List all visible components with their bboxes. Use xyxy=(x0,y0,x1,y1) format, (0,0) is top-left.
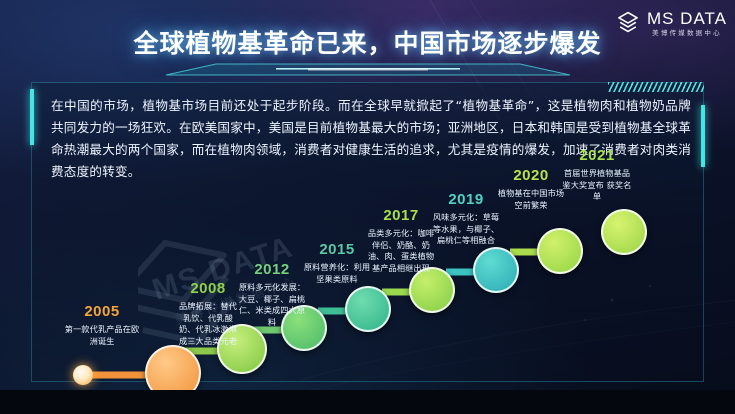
timeline-item-2019[interactable]: 2019 风味多元化：草莓等水果，与椰子、扁桃仁等相融合 xyxy=(431,192,501,247)
panel-left-accent-bar xyxy=(30,89,34,145)
timeline-desc-2019: 风味多元化：草莓等水果，与椰子、扁桃仁等相融合 xyxy=(431,212,501,247)
timeline-item-2008[interactable]: 2008 品牌拓展：替代乳饮、代乳酸奶、代乳冰激淋成三大品类元老 xyxy=(175,281,241,347)
timeline-item-2012[interactable]: 2012 原料多元化发展：大豆、椰子、扁桃仁、米类成四大原料 xyxy=(238,262,306,328)
page-title: 全球植物基革命已来，中国市场逐步爆发 xyxy=(133,24,601,60)
timeline-desc-2008: 品牌拓展：替代乳饮、代乳酸奶、代乳冰激淋成三大品类元老 xyxy=(175,301,241,347)
timeline-year-2008: 2008 xyxy=(175,281,241,296)
timeline-item-2020[interactable]: 2020 植物基在中国市场空前繁荣 xyxy=(496,168,566,211)
panel-corner-hatch-decoration xyxy=(608,82,704,92)
timeline-node-2019[interactable] xyxy=(473,247,519,293)
slide-canvas: MS DATA 美博传媒数据中心 全球植物基革命已来，中国市场逐步爆发 在中国的… xyxy=(0,0,735,414)
timeline-year-2015: 2015 xyxy=(303,242,371,257)
timeline-node-2020[interactable] xyxy=(537,228,583,274)
timeline-year-2019: 2019 xyxy=(431,192,501,207)
timeline-year-2020: 2020 xyxy=(496,168,566,183)
timeline-node-2015[interactable] xyxy=(345,286,391,332)
cyan-underline-ornament-icon xyxy=(158,62,578,78)
timeline-start-dot-icon xyxy=(73,365,93,385)
timeline-item-2015[interactable]: 2015 原料营养化：利用坚果类原料 xyxy=(303,242,371,285)
timeline-node-2021[interactable] xyxy=(601,209,647,255)
timeline-item-2017[interactable]: 2017 品类多元化：咖啡伴侣、奶酪、奶油、肉、蛋类植物基产品相继出现 xyxy=(366,208,436,274)
timeline-desc-2017: 品类多元化：咖啡伴侣、奶酪、奶油、肉、蛋类植物基产品相继出现 xyxy=(366,228,436,274)
timeline-desc-2012: 原料多元化发展：大豆、椰子、扁桃仁、米类成四大原料 xyxy=(238,282,306,328)
slide-title-area: 全球植物基革命已来，中国市场逐步爆发 xyxy=(0,24,735,60)
panel-right-accent-bar xyxy=(701,105,705,167)
slide-footer-bar xyxy=(0,390,735,414)
timeline-desc-2005: 第一款代乳产品在欧洲诞生 xyxy=(63,324,141,347)
timeline-desc-2015: 原料营养化：利用坚果类原料 xyxy=(303,262,371,285)
timeline-item-2005[interactable]: 2005 第一款代乳产品在欧洲诞生 xyxy=(63,304,141,347)
timeline-year-2017: 2017 xyxy=(366,208,436,223)
timeline-item-2021[interactable]: 2021 首届世界植物基品鉴大奖宣布 获奖名单 xyxy=(560,148,634,203)
timeline-desc-2020: 植物基在中国市场空前繁荣 xyxy=(496,188,566,211)
timeline-year-2021: 2021 xyxy=(560,148,634,163)
timeline-year-2012: 2012 xyxy=(238,262,306,277)
timeline-desc-2021: 首届世界植物基品鉴大奖宣布 获奖名单 xyxy=(560,168,634,203)
timeline-year-2005: 2005 xyxy=(63,304,141,319)
